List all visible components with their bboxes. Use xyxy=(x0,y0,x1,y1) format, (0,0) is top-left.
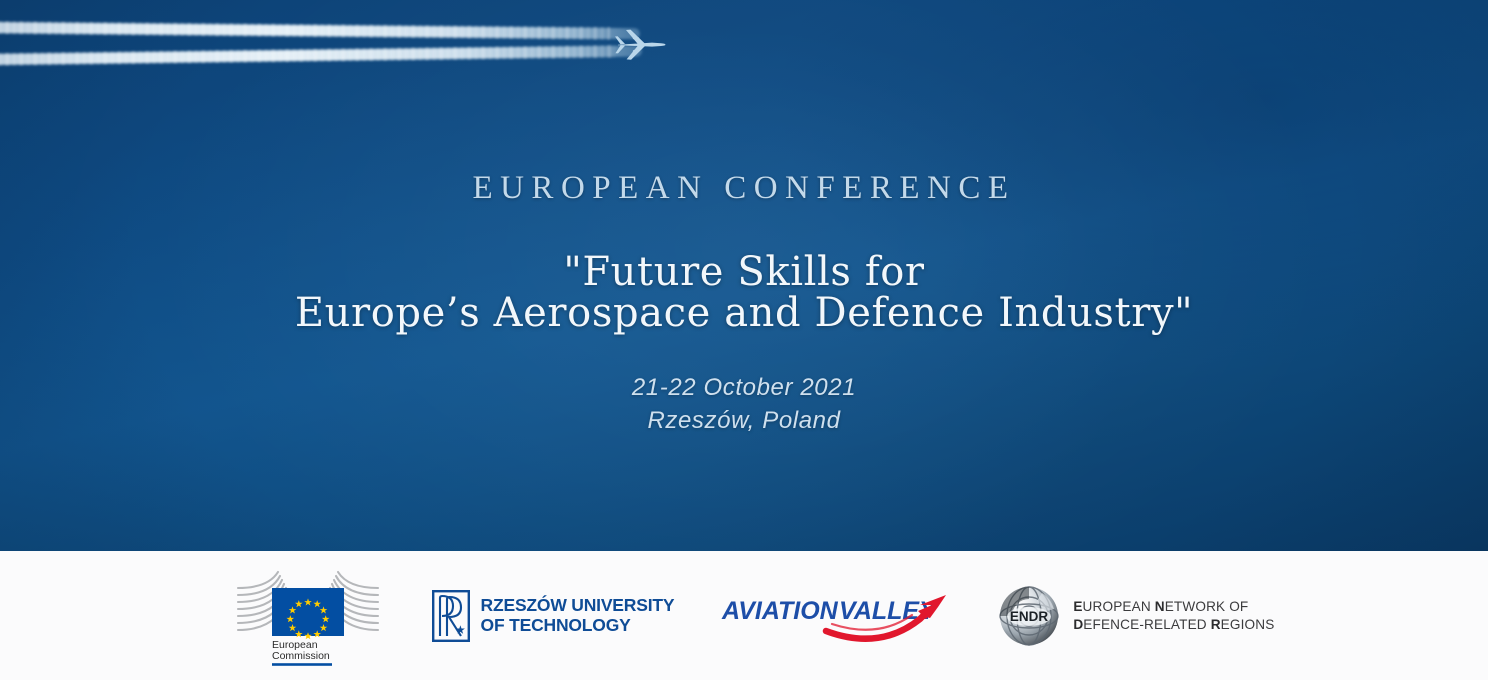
logo-item[interactable]: ENDR EUROPEAN NETWORK OF DEFENCE-RELATED… xyxy=(998,585,1274,647)
endr-line-1-rest-a: UROPEAN xyxy=(1083,599,1155,614)
endr-label: EUROPEAN NETWORK OF DEFENCE-RELATED REGI… xyxy=(1073,598,1274,634)
aviation-valley-word-1: AVIATION xyxy=(721,597,839,625)
conference-date: 21-22 October 2021 xyxy=(0,371,1488,404)
logo-item[interactable]: RZESZÓW UNIVERSITY OF TECHNOLOGY xyxy=(432,590,675,642)
endr-label-line-2: DEFENCE-RELATED REGIONS xyxy=(1073,616,1274,634)
logo-item[interactable]: AVIATION VALLEY xyxy=(720,585,952,647)
eu-flag xyxy=(272,588,344,636)
endr-line-2-rest-b: EGIONS xyxy=(1221,617,1275,632)
rut-label: RZESZÓW UNIVERSITY OF TECHNOLOGY xyxy=(481,596,675,635)
rut-label-line-1: RZESZÓW UNIVERSITY xyxy=(481,596,675,616)
conference-eyebrow: EUROPEAN CONFERENCE xyxy=(0,170,1488,207)
conference-meta: 21-22 October 2021 Rzeszów, Poland xyxy=(0,371,1488,437)
partner-logo-row: European Commission RZESZÓW UN xyxy=(0,551,1488,680)
conference-location: Rzeszów, Poland xyxy=(0,404,1488,437)
endr-line-2-cap-d: D xyxy=(1073,617,1083,632)
conference-title-line-2: Europe’s Aerospace and Defence Industry" xyxy=(0,293,1488,334)
pr-monogram-icon xyxy=(432,590,470,642)
endr-line-1-cap-n: N xyxy=(1155,599,1165,614)
aviation-valley-logo: AVIATION VALLEY xyxy=(720,585,952,647)
endr-line-1-cap-e: E xyxy=(1073,599,1082,614)
metallic-globe-icon: ENDR xyxy=(998,585,1060,647)
logo-item[interactable]: European Commission xyxy=(230,566,386,666)
conference-title-line-1: "Future Skills for xyxy=(0,252,1488,293)
conference-banner: EUROPEAN CONFERENCE "Future Skills for E… xyxy=(0,0,1488,680)
hero-text-block: EUROPEAN CONFERENCE "Future Skills for E… xyxy=(0,0,1488,551)
european-commission-logo: European Commission xyxy=(230,566,386,666)
endr-emblem-text: ENDR xyxy=(1010,609,1049,624)
endr-line-2-rest-a: EFENCE-RELATED xyxy=(1083,617,1210,632)
conference-title: "Future Skills for Europe’s Aerospace an… xyxy=(0,252,1488,334)
ec-label-line-2: Commission xyxy=(272,650,330,662)
ec-underline-rule xyxy=(272,663,332,666)
rut-label-line-2: OF TECHNOLOGY xyxy=(481,616,675,636)
endr-line-2-cap-r: R xyxy=(1211,617,1221,632)
endr-line-1-rest-b: ETWORK OF xyxy=(1165,599,1249,614)
endr-label-line-1: EUROPEAN NETWORK OF xyxy=(1073,598,1274,616)
logo-footer: European Commission RZESZÓW UN xyxy=(0,551,1488,680)
